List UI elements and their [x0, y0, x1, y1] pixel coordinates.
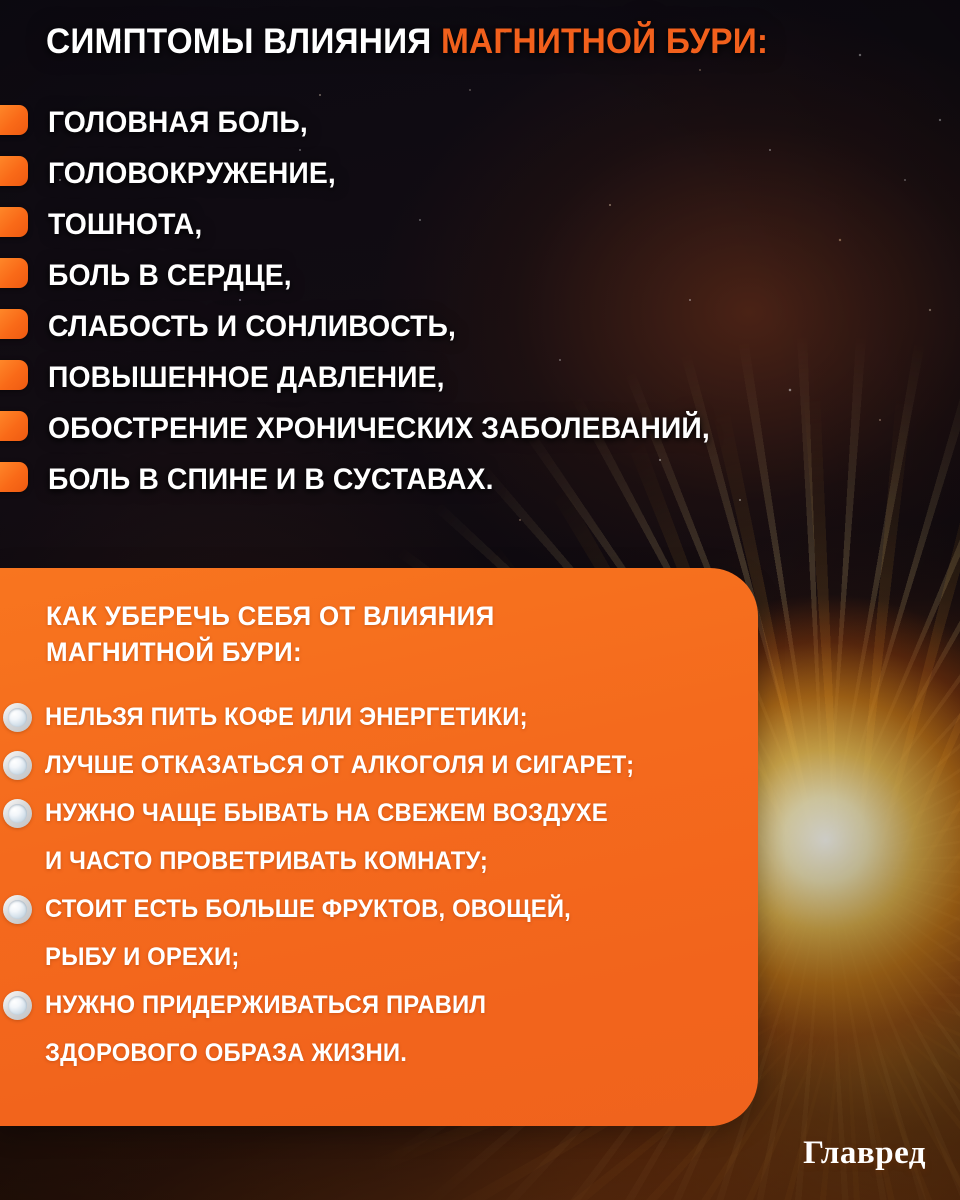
list-item: НУЖНО ПРИДЕРЖИВАТЬСЯ ПРАВИЛ ЗДОРОВОГО ОБ… [0, 981, 758, 1077]
advice-panel-heading: КАК УБЕРЕЧЬ СЕБЯ ОТ ВЛИЯНИЯ МАГНИТНОЙ БУ… [46, 598, 680, 671]
list-item: ТОШНОТА, [0, 199, 940, 250]
tip-label: СТОИТ ЕСТЬ БОЛЬШЕ ФРУКТОВ, ОВОЩЕЙ, [45, 895, 571, 924]
ring-bullet-icon [3, 703, 32, 732]
orange-tab-bullet-icon [0, 258, 28, 288]
symptom-label: БОЛЬ В СПИНЕ И В СУСТАВАХ. [48, 463, 494, 497]
list-item: НЕЛЬЗЯ ПИТЬ КОФЕ ИЛИ ЭНЕРГЕТИКИ; [0, 693, 758, 741]
symptom-label: ОБОСТРЕНИЕ ХРОНИЧЕСКИХ ЗАБОЛЕВАНИЙ, [48, 412, 710, 446]
ring-bullet-icon [3, 991, 32, 1020]
list-item: НУЖНО ЧАЩЕ БЫВАТЬ НА СВЕЖЕМ ВОЗДУХЕ И ЧА… [0, 789, 758, 885]
symptom-label: ГОЛОВНАЯ БОЛЬ, [48, 106, 308, 140]
symptom-label: БОЛЬ В СЕРДЦЕ, [48, 259, 292, 293]
list-item: СЛАБОСТЬ И СОНЛИВОСТЬ, [0, 301, 940, 352]
tip-label: НУЖНО ЧАЩЕ БЫВАТЬ НА СВЕЖЕМ ВОЗДУХЕ [45, 799, 608, 828]
orange-tab-bullet-icon [0, 207, 28, 237]
list-item: ГОЛОВОКРУЖЕНИЕ, [0, 148, 940, 199]
orange-tab-bullet-icon [0, 309, 28, 339]
advice-heading-line-1: КАК УБЕРЕЧЬ СЕБЯ ОТ ВЛИЯНИЯ [46, 598, 680, 634]
list-item: БОЛЬ В СПИНЕ И В СУСТАВАХ. [0, 454, 940, 505]
advice-heading-line-2: МАГНИТНОЙ БУРИ: [46, 634, 680, 670]
page-title: СИМПТОМЫ ВЛИЯНИЯ МАГНИТНОЙ БУРИ: [46, 24, 768, 61]
advice-panel: КАК УБЕРЕЧЬ СЕБЯ ОТ ВЛИЯНИЯ МАГНИТНОЙ БУ… [0, 568, 758, 1126]
symptom-label: ТОШНОТА, [48, 208, 202, 242]
tip-label-continuation: И ЧАСТО ПРОВЕТРИВАТЬ КОМНАТУ; [45, 847, 488, 876]
tip-label-continuation: ЗДОРОВОГО ОБРАЗА ЖИЗНИ. [45, 1039, 407, 1068]
symptom-label: ПОВЫШЕННОЕ ДАВЛЕНИЕ, [48, 361, 445, 395]
list-item: ОБОСТРЕНИЕ ХРОНИЧЕСКИХ ЗАБОЛЕВАНИЙ, [0, 403, 940, 454]
symptom-label: СЛАБОСТЬ И СОНЛИВОСТЬ, [48, 310, 456, 344]
ring-bullet-icon [3, 751, 32, 780]
list-item: ПОВЫШЕННОЕ ДАВЛЕНИЕ, [0, 352, 940, 403]
infographic-poster: СИМПТОМЫ ВЛИЯНИЯ МАГНИТНОЙ БУРИ: ГОЛОВНА… [0, 0, 960, 1200]
tip-label: ЛУЧШЕ ОТКАЗАТЬСЯ ОТ АЛКОГОЛЯ И СИГАРЕТ; [45, 751, 634, 780]
orange-tab-bullet-icon [0, 105, 28, 135]
list-item: ЛУЧШЕ ОТКАЗАТЬСЯ ОТ АЛКОГОЛЯ И СИГАРЕТ; [0, 741, 758, 789]
tip-label-continuation: РЫБУ И ОРЕХИ; [45, 943, 239, 972]
orange-tab-bullet-icon [0, 411, 28, 441]
brand-logo: Главред [803, 1135, 926, 1172]
advice-tips-list: НЕЛЬЗЯ ПИТЬ КОФЕ ИЛИ ЭНЕРГЕТИКИ; ЛУЧШЕ О… [0, 693, 758, 1077]
ring-bullet-icon [3, 799, 32, 828]
list-item: ГОЛОВНАЯ БОЛЬ, [0, 97, 940, 148]
page-title-white-part: СИМПТОМЫ ВЛИЯНИЯ [46, 22, 441, 61]
page-title-accent-part: МАГНИТНОЙ БУРИ: [441, 22, 768, 61]
orange-tab-bullet-icon [0, 462, 28, 492]
ring-bullet-icon [3, 895, 32, 924]
tip-label: НУЖНО ПРИДЕРЖИВАТЬСЯ ПРАВИЛ [45, 991, 486, 1020]
orange-tab-bullet-icon [0, 360, 28, 390]
orange-tab-bullet-icon [0, 156, 28, 186]
list-item: СТОИТ ЕСТЬ БОЛЬШЕ ФРУКТОВ, ОВОЩЕЙ, РЫБУ … [0, 885, 758, 981]
list-item: БОЛЬ В СЕРДЦЕ, [0, 250, 940, 301]
symptom-label: ГОЛОВОКРУЖЕНИЕ, [48, 157, 336, 191]
tip-label: НЕЛЬЗЯ ПИТЬ КОФЕ ИЛИ ЭНЕРГЕТИКИ; [45, 703, 528, 732]
symptoms-list: ГОЛОВНАЯ БОЛЬ, ГОЛОВОКРУЖЕНИЕ, ТОШНОТА, … [0, 97, 940, 505]
